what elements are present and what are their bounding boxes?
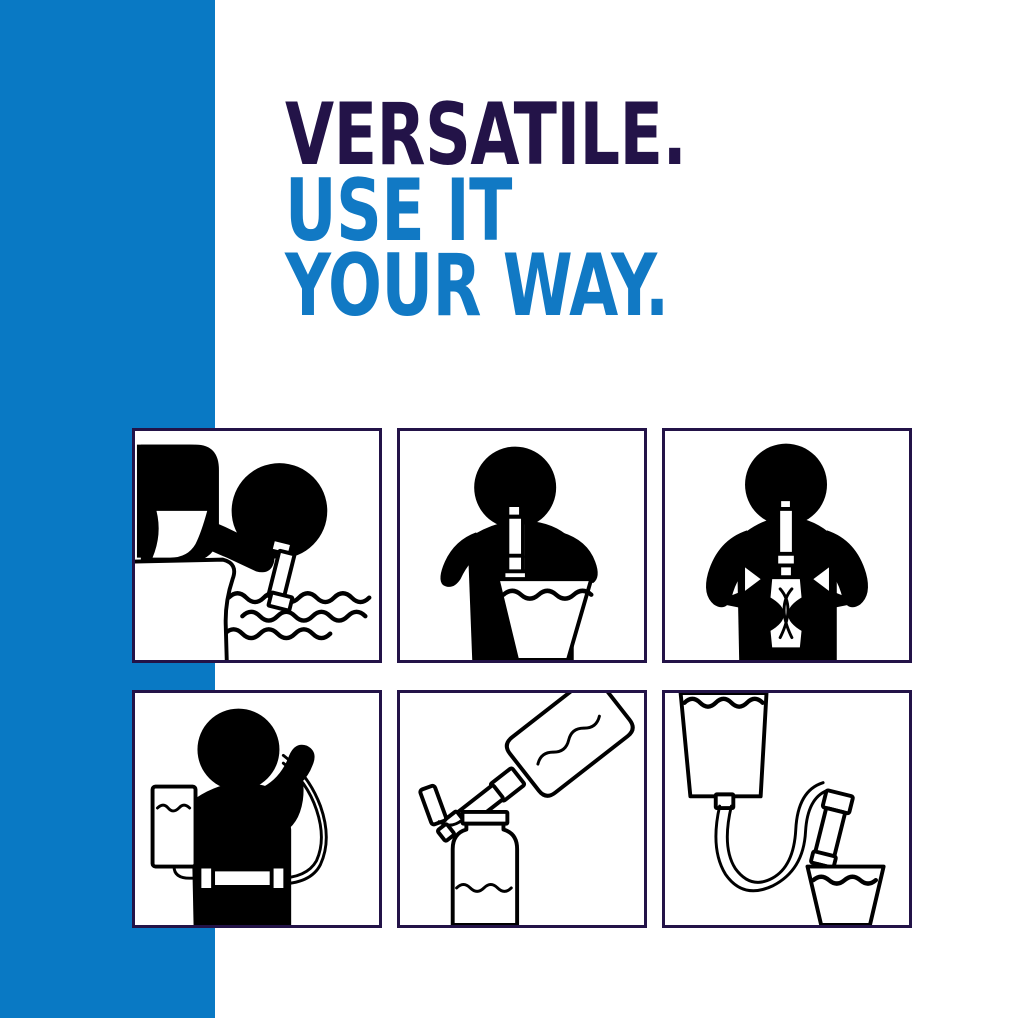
panel-inline-hydration-pack: Use inline with a hydration pack reservo… <box>132 690 382 928</box>
inline-filter <box>199 867 285 890</box>
panel-gravity-feed: Hang the reservoir and gravity-feed filt… <box>662 690 912 928</box>
water-bottle <box>453 812 517 925</box>
kneeling-person <box>137 445 327 573</box>
headline-block: VERSATILE. USE IT YOUR WAY. <box>285 98 774 325</box>
straw-filter <box>268 539 294 611</box>
stream-water-waves <box>225 593 369 638</box>
straw-filter <box>776 499 796 579</box>
panel-drink-from-cup: Drink from a cup or container using the … <box>397 428 647 663</box>
poster-canvas: VERSATILE. USE IT YOUR WAY. Drink direct… <box>0 0 1024 1024</box>
cup <box>807 867 883 925</box>
panel-drink-from-source: Drink directly from the water source wit… <box>132 428 382 663</box>
person-with-pack <box>192 709 315 925</box>
bottle-collar <box>462 812 507 824</box>
panel-fill-bottle: Squeeze filtered water from the pouch in… <box>397 690 647 928</box>
stream-bank <box>135 560 237 660</box>
panel-drink-from-pouch: Attach the filter to a collapsible pouch… <box>662 428 912 663</box>
hanging-reservoir <box>681 693 767 808</box>
headline-line-3: YOUR WAY. <box>285 249 686 325</box>
straw-filter <box>503 505 526 581</box>
person-head <box>197 709 279 791</box>
reservoir <box>153 787 196 867</box>
usage-panel-grid: Drink directly from the water source wit… <box>132 428 912 928</box>
